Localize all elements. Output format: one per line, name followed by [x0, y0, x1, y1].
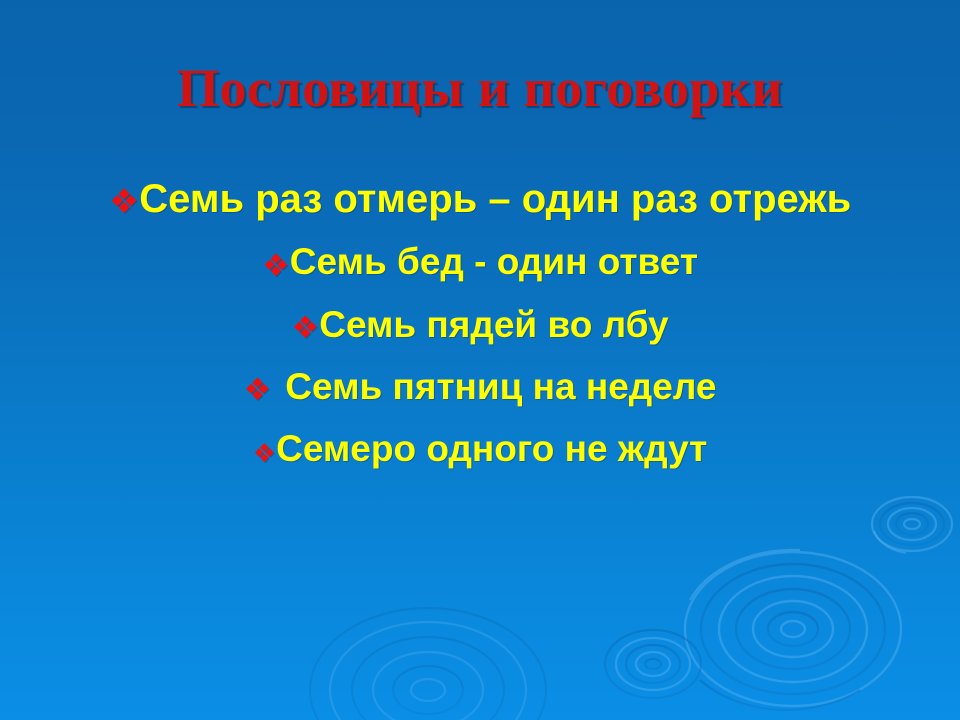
- list-item: ❖Семь пятниц на неделе: [0, 357, 960, 419]
- ripple-small-top-right: [872, 497, 952, 553]
- red-diamond-cluster-bullet-icon: ❖: [244, 360, 286, 419]
- list-item-label: Семь пядей во лбу: [319, 295, 668, 354]
- proverbs-list: ❖Семь раз отмерь – один раз отрежь ❖Семь…: [0, 170, 960, 483]
- red-diamond-cluster-bullet-icon: ❖: [291, 298, 319, 357]
- list-item-label: Семеро одного не ждут: [276, 419, 707, 478]
- list-item: ❖Семеро одного не ждут: [0, 419, 960, 483]
- ripple-medium-bottom-center: [605, 630, 701, 698]
- list-item: ❖Семь раз отмерь – один раз отрежь: [0, 170, 960, 232]
- list-item-label: Семь бед - один ответ: [290, 232, 698, 291]
- red-diamond-cluster-bullet-icon: ❖: [109, 173, 139, 232]
- red-diamond-cluster-bullet-icon: ❖: [262, 236, 290, 295]
- ripple-large-bottom-right: [685, 550, 901, 710]
- ripple-large-bottom-left: [310, 608, 546, 720]
- page-title: Пословицы и поговорки: [0, 58, 960, 118]
- list-item-label: Семь пятниц на неделе: [285, 357, 716, 416]
- red-diamond-cluster-bullet-icon: ❖: [253, 424, 276, 483]
- list-item-label: Семь раз отмерь – один раз отрежь: [139, 170, 851, 229]
- slide-canvas: Пословицы и поговорки ❖Семь раз отмерь –…: [0, 0, 960, 720]
- list-item: ❖Семь пядей во лбу: [0, 295, 960, 357]
- list-item: ❖Семь бед - один ответ: [0, 232, 960, 294]
